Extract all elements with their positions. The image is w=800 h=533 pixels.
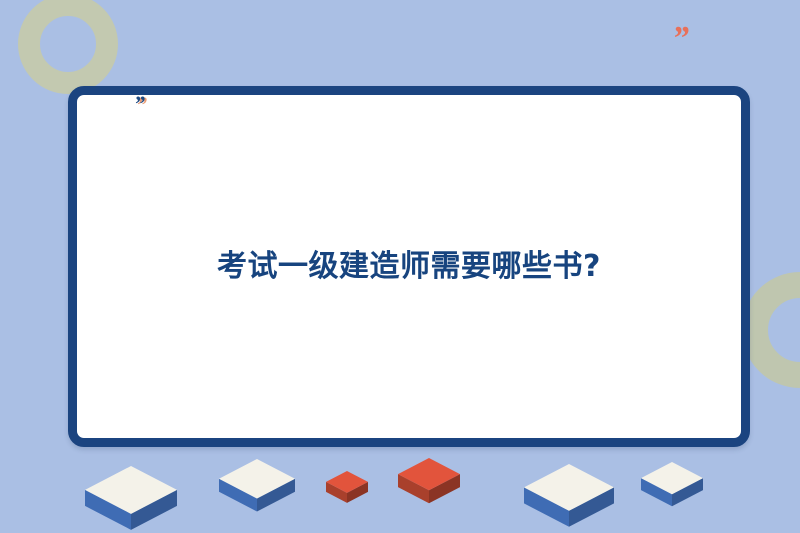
iso-box-decoration-6	[641, 462, 703, 506]
content-card: 考试一级建造师需要哪些书?	[68, 86, 750, 447]
page-title: 考试一级建造师需要哪些书?	[177, 247, 641, 286]
iso-box-decoration-5	[524, 464, 614, 527]
ring-decoration-bottom-right	[742, 272, 800, 388]
iso-box-decoration-1	[85, 466, 177, 530]
iso-box-decoration-2	[219, 459, 295, 512]
iso-box-decoration-4	[398, 458, 460, 503]
quote-mark-icon-card: ”	[134, 93, 144, 115]
poster-canvas: ” 考试一级建造师需要哪些书? ”	[0, 0, 800, 533]
ring-decoration-top-left	[18, 0, 118, 94]
quote-mark-icon-top-right: ”	[672, 22, 688, 56]
iso-box-decoration-3	[326, 471, 368, 503]
